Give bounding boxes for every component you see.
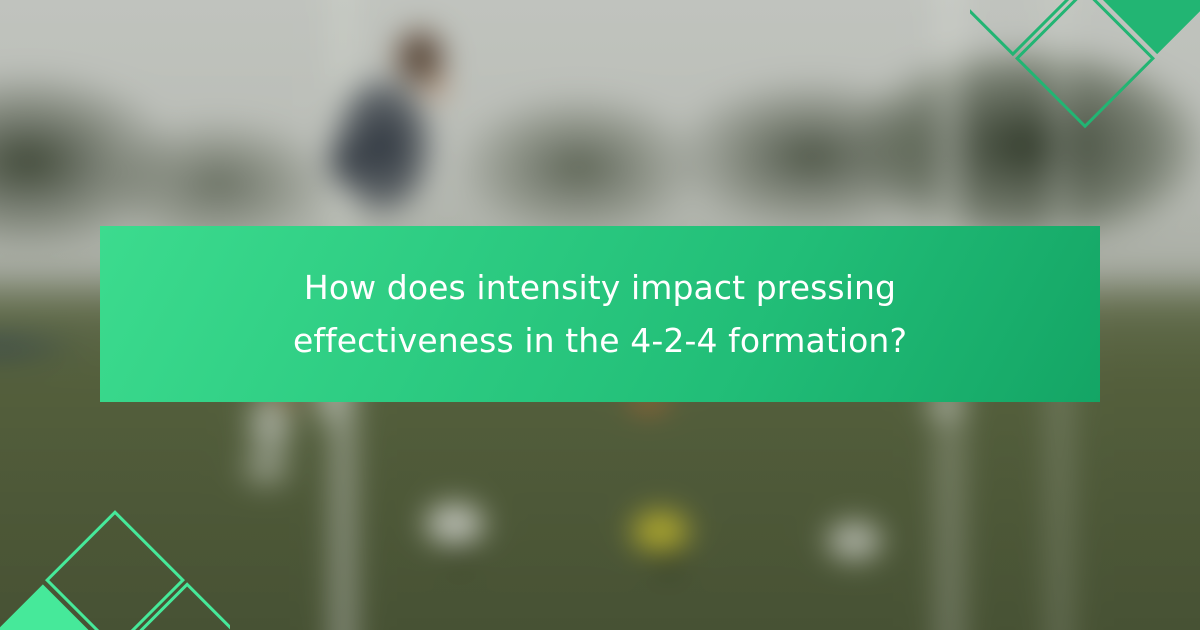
page-title: How does intensity impact pressing effec… bbox=[280, 261, 920, 368]
headline-banner: How does intensity impact pressing effec… bbox=[100, 226, 1100, 402]
question-card: How does intensity impact pressing effec… bbox=[0, 0, 1200, 630]
